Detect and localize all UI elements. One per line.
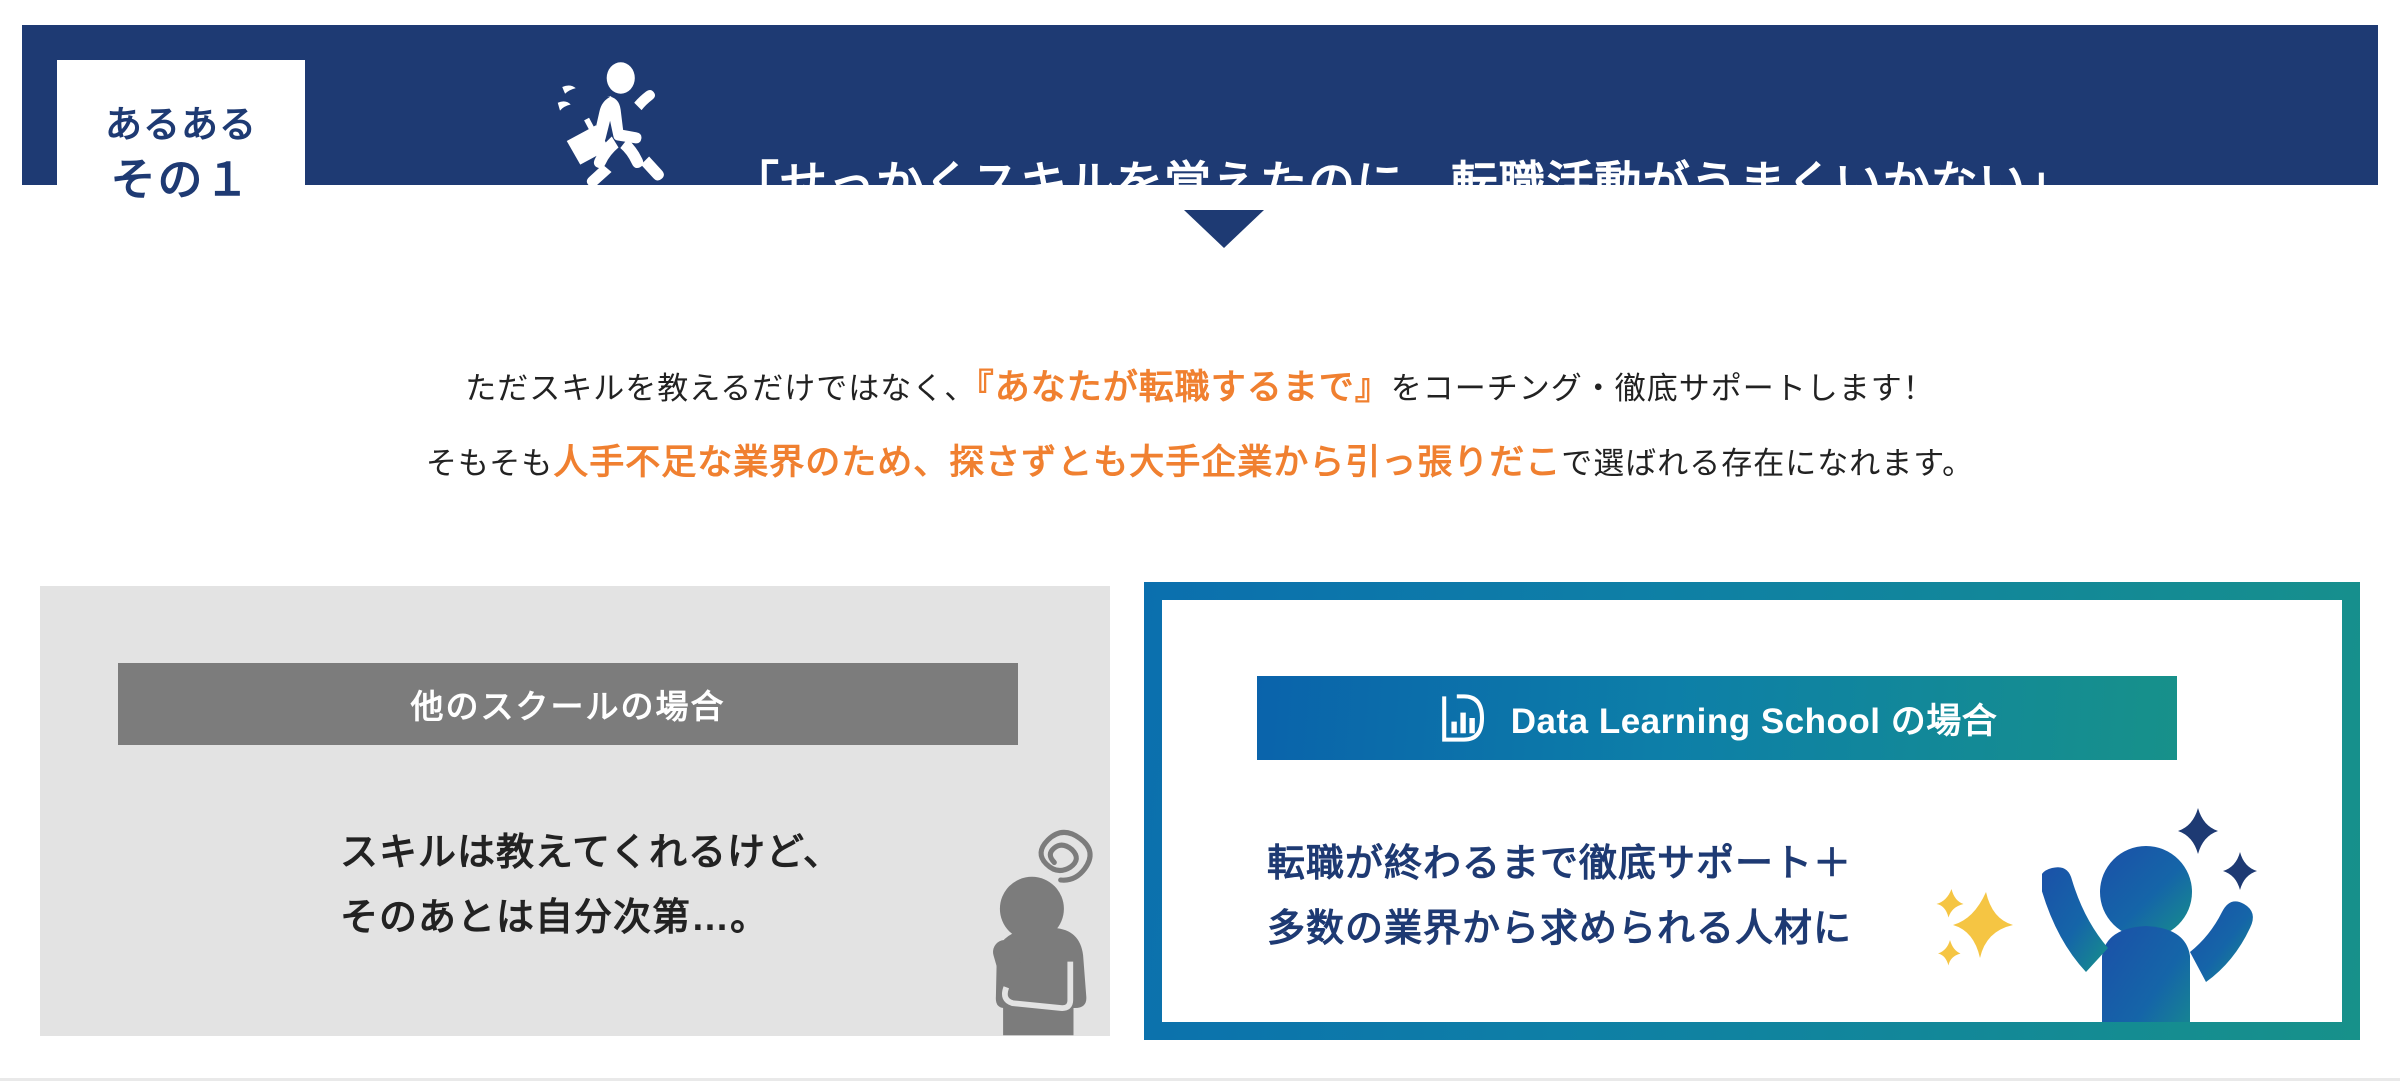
dls-body-line-2: 多数の業界から求められる人材に [1267,897,1852,962]
dls-banner-label: Data Learning School の場合 [1511,693,1998,744]
badge-line-1: あるある [105,100,257,150]
lead-line-2-post: で選ばれる存在になれます。 [1561,446,1974,481]
data-learning-school-logo [1437,691,1491,745]
other-schools-body-line-1: スキルは教えてくれるけど、 [340,821,842,886]
other-schools-body-line-2: そのあとは自分次第…。 [340,886,842,951]
running-businessperson-icon [542,60,677,195]
title-underline [732,217,2112,221]
dls-banner-suffix: の場合 [1891,702,1998,741]
promo-section: あるある その１ 「せっかくスキルを覚えたのに、転職活動がうまくいかない」 [0,0,2400,1081]
header-pointer-triangle [1184,210,1264,248]
lead-line-2: そもそも人手不足な業界のため、探さずとも大手企業から引っ張りだこで選ばれる存在に… [0,445,2400,480]
dls-body-line-1: 転職が終わるまで徹底サポート＋ [1267,832,1852,897]
sparkle-icon [1932,880,2022,970]
section-header: あるある その１ 「せっかくスキルを覚えたのに、転職活動がうまくいかない」 [22,25,2378,185]
page-title: 「せっかくスキルを覚えたのに、転職活動がうまくいかない」 [732,145,2122,214]
card-other-schools: 他のスクールの場合 スキルは教えてくれるけど、 そのあとは自分次第…。 [40,586,1110,1036]
lead-line-2-highlight: 人手不足な業界のため、探さずとも大手企業から引っ張りだこ [553,443,1561,482]
thinking-person-icon [960,808,1110,1036]
lead-line-2-pre: そもそも [426,446,553,481]
dls-card-inner: Data Learning School の場合 転職が終わるまで徹底サポート＋… [1162,600,2342,1022]
lead-line-1-pre: ただスキルを教えるだけではなく、 [465,371,976,406]
lead-line-1-highlight: 『あなたが転職するまで』 [976,368,1391,407]
badge-line-2: その１ [110,150,251,210]
lead-copy: ただスキルを教えるだけではなく、『あなたが転職するまで』をコーチング・徹底サポー… [0,370,2400,480]
other-schools-banner-label: 他のスクールの場合 [411,680,726,728]
badge-common-problem: あるある その１ [57,60,305,250]
lead-line-1-post: をコーチング・徹底サポートします！ [1391,371,1935,406]
other-schools-body: スキルは教えてくれるけど、 そのあとは自分次第…。 [340,821,842,952]
dls-banner-brand: Data Learning School [1511,702,1881,741]
lead-line-1: ただスキルを教えるだけではなく、『あなたが転職するまで』をコーチング・徹底サポー… [0,370,2400,405]
cheering-person-icon [2042,780,2302,1022]
other-schools-banner: 他のスクールの場合 [118,663,1018,745]
dls-banner: Data Learning School の場合 [1257,676,2177,760]
dls-body: 転職が終わるまで徹底サポート＋ 多数の業界から求められる人材に [1267,832,1852,963]
card-data-learning-school: Data Learning School の場合 転職が終わるまで徹底サポート＋… [1144,582,2360,1040]
